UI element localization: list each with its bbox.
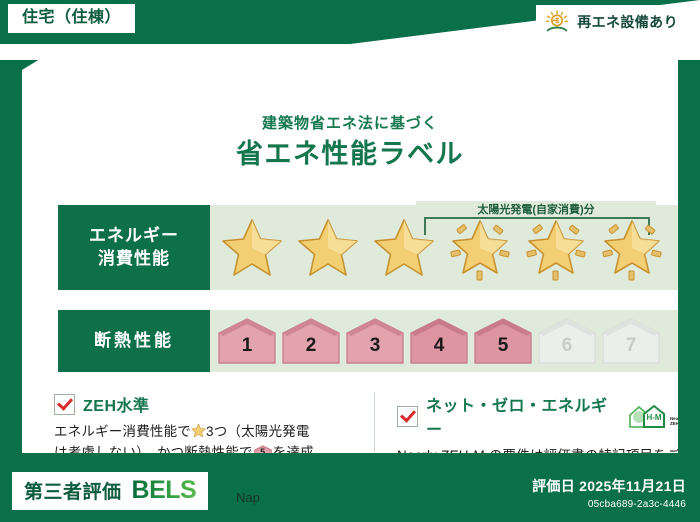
zeh-criteria-header: ZEH水準	[54, 392, 362, 416]
insulation-level-value: 3	[370, 335, 381, 365]
insulation-performance-label-text: 断熱性能	[94, 330, 174, 353]
star-icon-solar	[442, 205, 518, 290]
energy-label-root: 住宅（住棟） 再エネ設備あり 建築物省エネ法に基づ	[0, 0, 700, 522]
energy-performance-label: エネルギー 消費性能	[58, 205, 210, 290]
zeh-m-logo-text: H-M	[646, 413, 661, 422]
checkmark-icon	[397, 406, 418, 427]
zeh-m-logo-icon: H-M Nearly ZEH-M	[624, 401, 682, 431]
renewable-energy-label: 再エネ設備あり	[577, 12, 678, 32]
insulation-performance-row: 断熱性能 1 2	[58, 310, 688, 372]
star-icon-inline	[191, 423, 206, 438]
evaluation-info: 評価日 2025年11月21日 05cba689-2a3c-4446	[532, 476, 686, 510]
checkmark-icon	[54, 394, 75, 415]
star-icon-solar	[518, 205, 594, 290]
bels-certification-footer: 第三者評価 BELS	[12, 472, 208, 510]
evaluator-name: Nap	[236, 490, 260, 505]
insulation-level: 1	[216, 317, 278, 365]
star-icon	[290, 205, 366, 290]
insulation-level-value: 6	[562, 335, 573, 365]
insulation-level-value: 7	[626, 335, 637, 365]
insulation-level-inactive: 7	[600, 317, 662, 365]
insulation-level: 5	[472, 317, 534, 365]
zeh-criteria-title: ZEH水準	[83, 392, 150, 416]
net-zero-criteria-title: ネット・ゼロ・エネルギー	[426, 392, 614, 440]
energy-performance-row: エネルギー 消費性能 太陽光発電(自家消費)分	[58, 205, 688, 290]
energy-stars-area: 太陽光発電(自家消費)分	[210, 205, 688, 290]
energy-performance-label-line1: エネルギー	[89, 225, 179, 248]
zeh-body-star-count: 3つ（太陽光発電	[206, 424, 310, 439]
label-subtitle: 建築物省エネ法に基づく	[22, 112, 678, 133]
evaluation-date: 評価日 2025年11月21日	[532, 476, 686, 496]
star-icon	[214, 205, 290, 290]
renewable-energy-badge: 再エネ設備あり	[536, 5, 690, 40]
insulation-performance-label: 断熱性能	[58, 310, 210, 372]
bels-logo-text: BELS	[132, 478, 197, 503]
zeh-body-part1: エネルギー消費性能で	[54, 424, 191, 439]
insulation-level-value: 5	[498, 335, 509, 365]
housing-type-tag: 住宅（住棟）	[8, 4, 135, 33]
star-icon-solar	[594, 205, 670, 290]
main-card: 建築物省エネ法に基づく 省エネ性能ラベル エネルギー 消費性能 太陽光発電(自家…	[22, 48, 678, 453]
insulation-level-value: 4	[434, 335, 445, 365]
insulation-level: 4	[408, 317, 470, 365]
label-title: 省エネ性能ラベル	[22, 132, 678, 171]
net-zero-criteria-header: ネット・ゼロ・エネルギー H-M Nearly ZEH-M	[397, 392, 682, 440]
insulation-level-value: 1	[242, 335, 253, 365]
evaluation-id: 05cba689-2a3c-4446	[532, 499, 686, 510]
energy-performance-label-line2: 消費性能	[98, 248, 170, 271]
housing-type-label: 住宅（住棟）	[22, 9, 121, 26]
sun-icon	[544, 10, 570, 34]
insulation-level: 2	[280, 317, 342, 365]
insulation-level-value: 2	[306, 335, 317, 365]
insulation-level-scale: 1 2 3	[210, 310, 688, 372]
insulation-level: 3	[344, 317, 406, 365]
insulation-level-inactive: 6	[536, 317, 598, 365]
star-rating	[214, 205, 692, 290]
third-party-label: 第三者評価	[24, 477, 122, 504]
star-icon	[366, 205, 442, 290]
